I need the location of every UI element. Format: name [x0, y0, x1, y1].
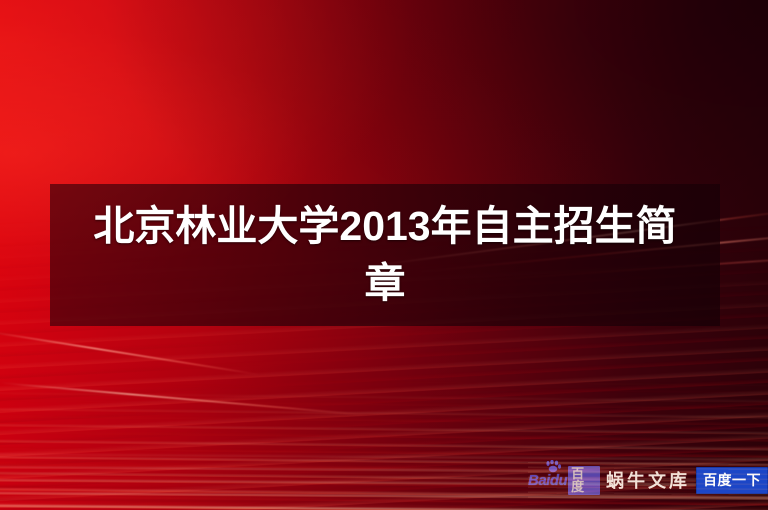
baidu-logo: Baidu 百度: [528, 466, 600, 495]
baidu-search-button[interactable]: 百度一下: [696, 467, 768, 494]
watermark-strip: Baidu 百度 蜗牛文库 百度一下: [528, 462, 768, 498]
baidu-cn-label: 百度: [568, 466, 600, 495]
poster-image: 北京林业大学2013年自主招生简 章 Baidu 百度 蜗牛文库 百度一下: [0, 0, 768, 510]
title-plate: 北京林业大学2013年自主招生简 章: [50, 184, 720, 326]
site-name-watermark: 蜗牛文库: [606, 467, 690, 493]
page-title: 北京林业大学2013年自主招生简 章: [50, 198, 720, 311]
baidu-wordmark: Baidu: [528, 473, 567, 488]
page-title-line-1: 北京林业大学2013年自主招生简: [93, 203, 676, 249]
baidu-paw-icon: [545, 460, 561, 473]
page-title-line-2: 章: [365, 260, 406, 306]
